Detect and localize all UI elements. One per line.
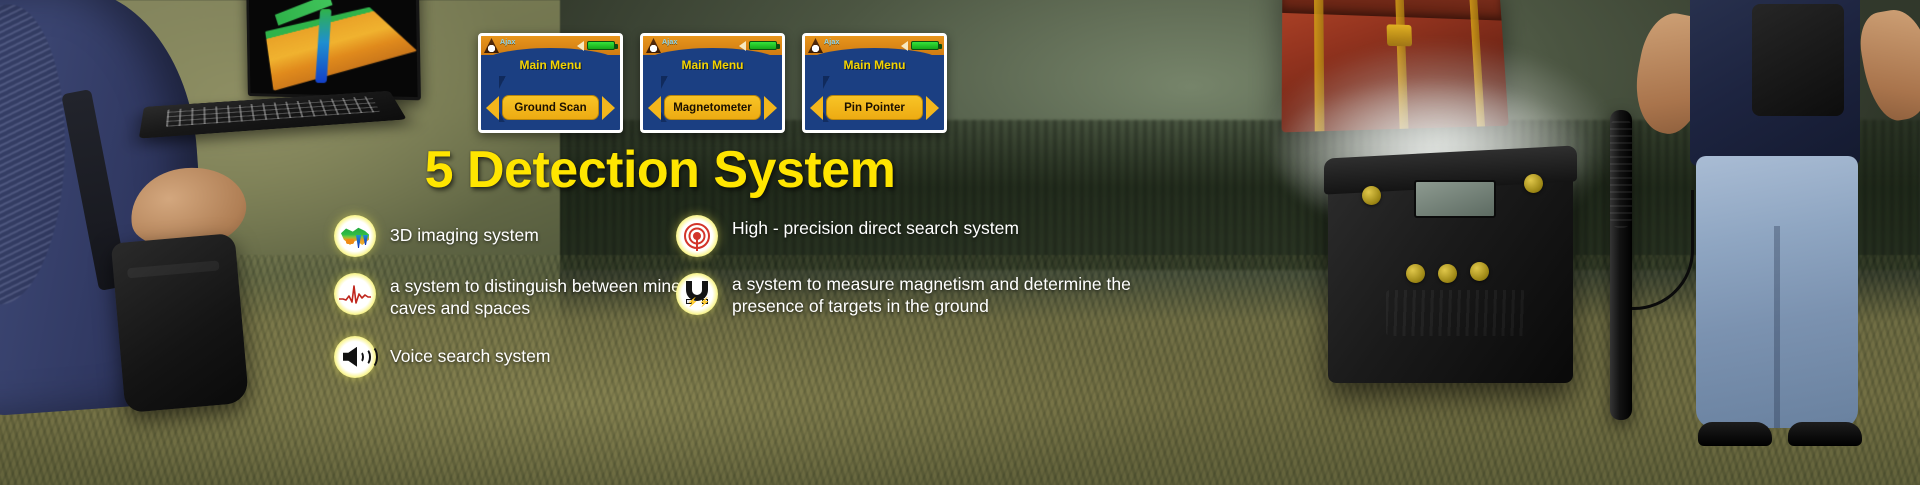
device-screen-pin-pointer[interactable]: Ajax Main Menu Pin Pointer: [802, 33, 947, 133]
device-menu-title: Main Menu: [643, 58, 782, 72]
device-mode-selector: Ground Scan: [486, 95, 615, 120]
case-lcd-display: [1414, 180, 1496, 218]
sound-wave-arc: [362, 345, 378, 369]
device-mode-button[interactable]: Ground Scan: [502, 95, 599, 120]
device-brand-label: Ajax: [500, 39, 516, 46]
laptop-keys: [166, 96, 380, 127]
feature-item-high-precision-search: High - precision direct search system: [676, 215, 1156, 257]
device-screen-ground-scan[interactable]: Ajax Main Menu Ground Scan: [478, 33, 623, 133]
speaker-wave-icon: [334, 336, 376, 378]
device-menu-title: Main Menu: [481, 58, 620, 72]
signal-stem: [696, 234, 698, 251]
waveform-svg: [339, 283, 371, 305]
horseshoe-magnet-icon: ⚡ ⚡: [676, 273, 718, 315]
device-mode-selector: Pin Pointer: [810, 95, 939, 120]
probe-grip: [1610, 118, 1632, 228]
3d-terrain-icon: [334, 215, 376, 257]
battery-full-icon: [749, 41, 777, 50]
feature-label: 3D imaging system: [390, 215, 539, 246]
feature-item-magnetism: ⚡ ⚡ a system to measure magnetism and de…: [676, 273, 1156, 318]
battery-full-icon: [587, 41, 615, 50]
laptop-keyboard-base: [139, 91, 407, 139]
battery-full-icon: [911, 41, 939, 50]
case-knob: [1524, 174, 1543, 193]
handheld-control-unit: [1752, 4, 1844, 116]
feature-label: High - precision direct search system: [732, 215, 1019, 239]
feature-lists: 3D imaging system a system to distinguis…: [0, 215, 1920, 395]
device-screen-magnetometer[interactable]: Ajax Main Menu Magnetometer: [640, 33, 785, 133]
device-menu-title: Main Menu: [805, 58, 944, 72]
lightning-bolt-icon: ⚡: [699, 298, 710, 307]
device-screens-row: Ajax Main Menu Ground Scan Ajax Main Men…: [478, 33, 947, 133]
laptop: [140, 0, 405, 150]
arrow-left-icon[interactable]: [486, 96, 499, 120]
person-right-arm: [1855, 5, 1920, 125]
person-shoe: [1788, 422, 1862, 446]
arrow-right-icon[interactable]: [602, 96, 615, 120]
device-mode-selector: Magnetometer: [648, 95, 777, 120]
promo-banner: Ajax Main Menu Ground Scan Ajax Main Men…: [0, 0, 1920, 485]
case-knob: [1362, 186, 1381, 205]
lightning-bolt-icon: ⚡: [687, 298, 698, 307]
signal-target-icon: [676, 215, 718, 257]
arrow-left-icon[interactable]: [648, 96, 661, 120]
device-brand-label: Ajax: [662, 39, 678, 46]
waveform-glyph: [339, 283, 371, 305]
speaker-icon: [901, 41, 908, 51]
device-mode-button[interactable]: Pin Pointer: [826, 95, 923, 120]
device-mode-button[interactable]: Magnetometer: [664, 95, 761, 120]
feature-item-voice-search: Voice search system: [334, 336, 754, 378]
arrow-right-icon[interactable]: [764, 96, 777, 120]
speaker-icon: [577, 41, 584, 51]
speaker-cone: [343, 347, 357, 367]
device-brand-label: Ajax: [824, 39, 840, 46]
feature-label: a system to measure magnetism and determ…: [732, 273, 1156, 318]
speaker-icon: [739, 41, 746, 51]
terrain-hotspot: [346, 239, 354, 244]
feature-column-right: High - precision direct search system ⚡ …: [676, 215, 1156, 334]
signal-rings: [682, 221, 712, 251]
page-title: 5 Detection System: [380, 140, 940, 200]
feature-label: Voice search system: [390, 336, 550, 367]
waveform-icon: [334, 273, 376, 315]
arrow-right-icon[interactable]: [926, 96, 939, 120]
arrow-left-icon[interactable]: [810, 96, 823, 120]
laptop-screen: [246, 0, 421, 100]
person-shoe: [1698, 422, 1772, 446]
